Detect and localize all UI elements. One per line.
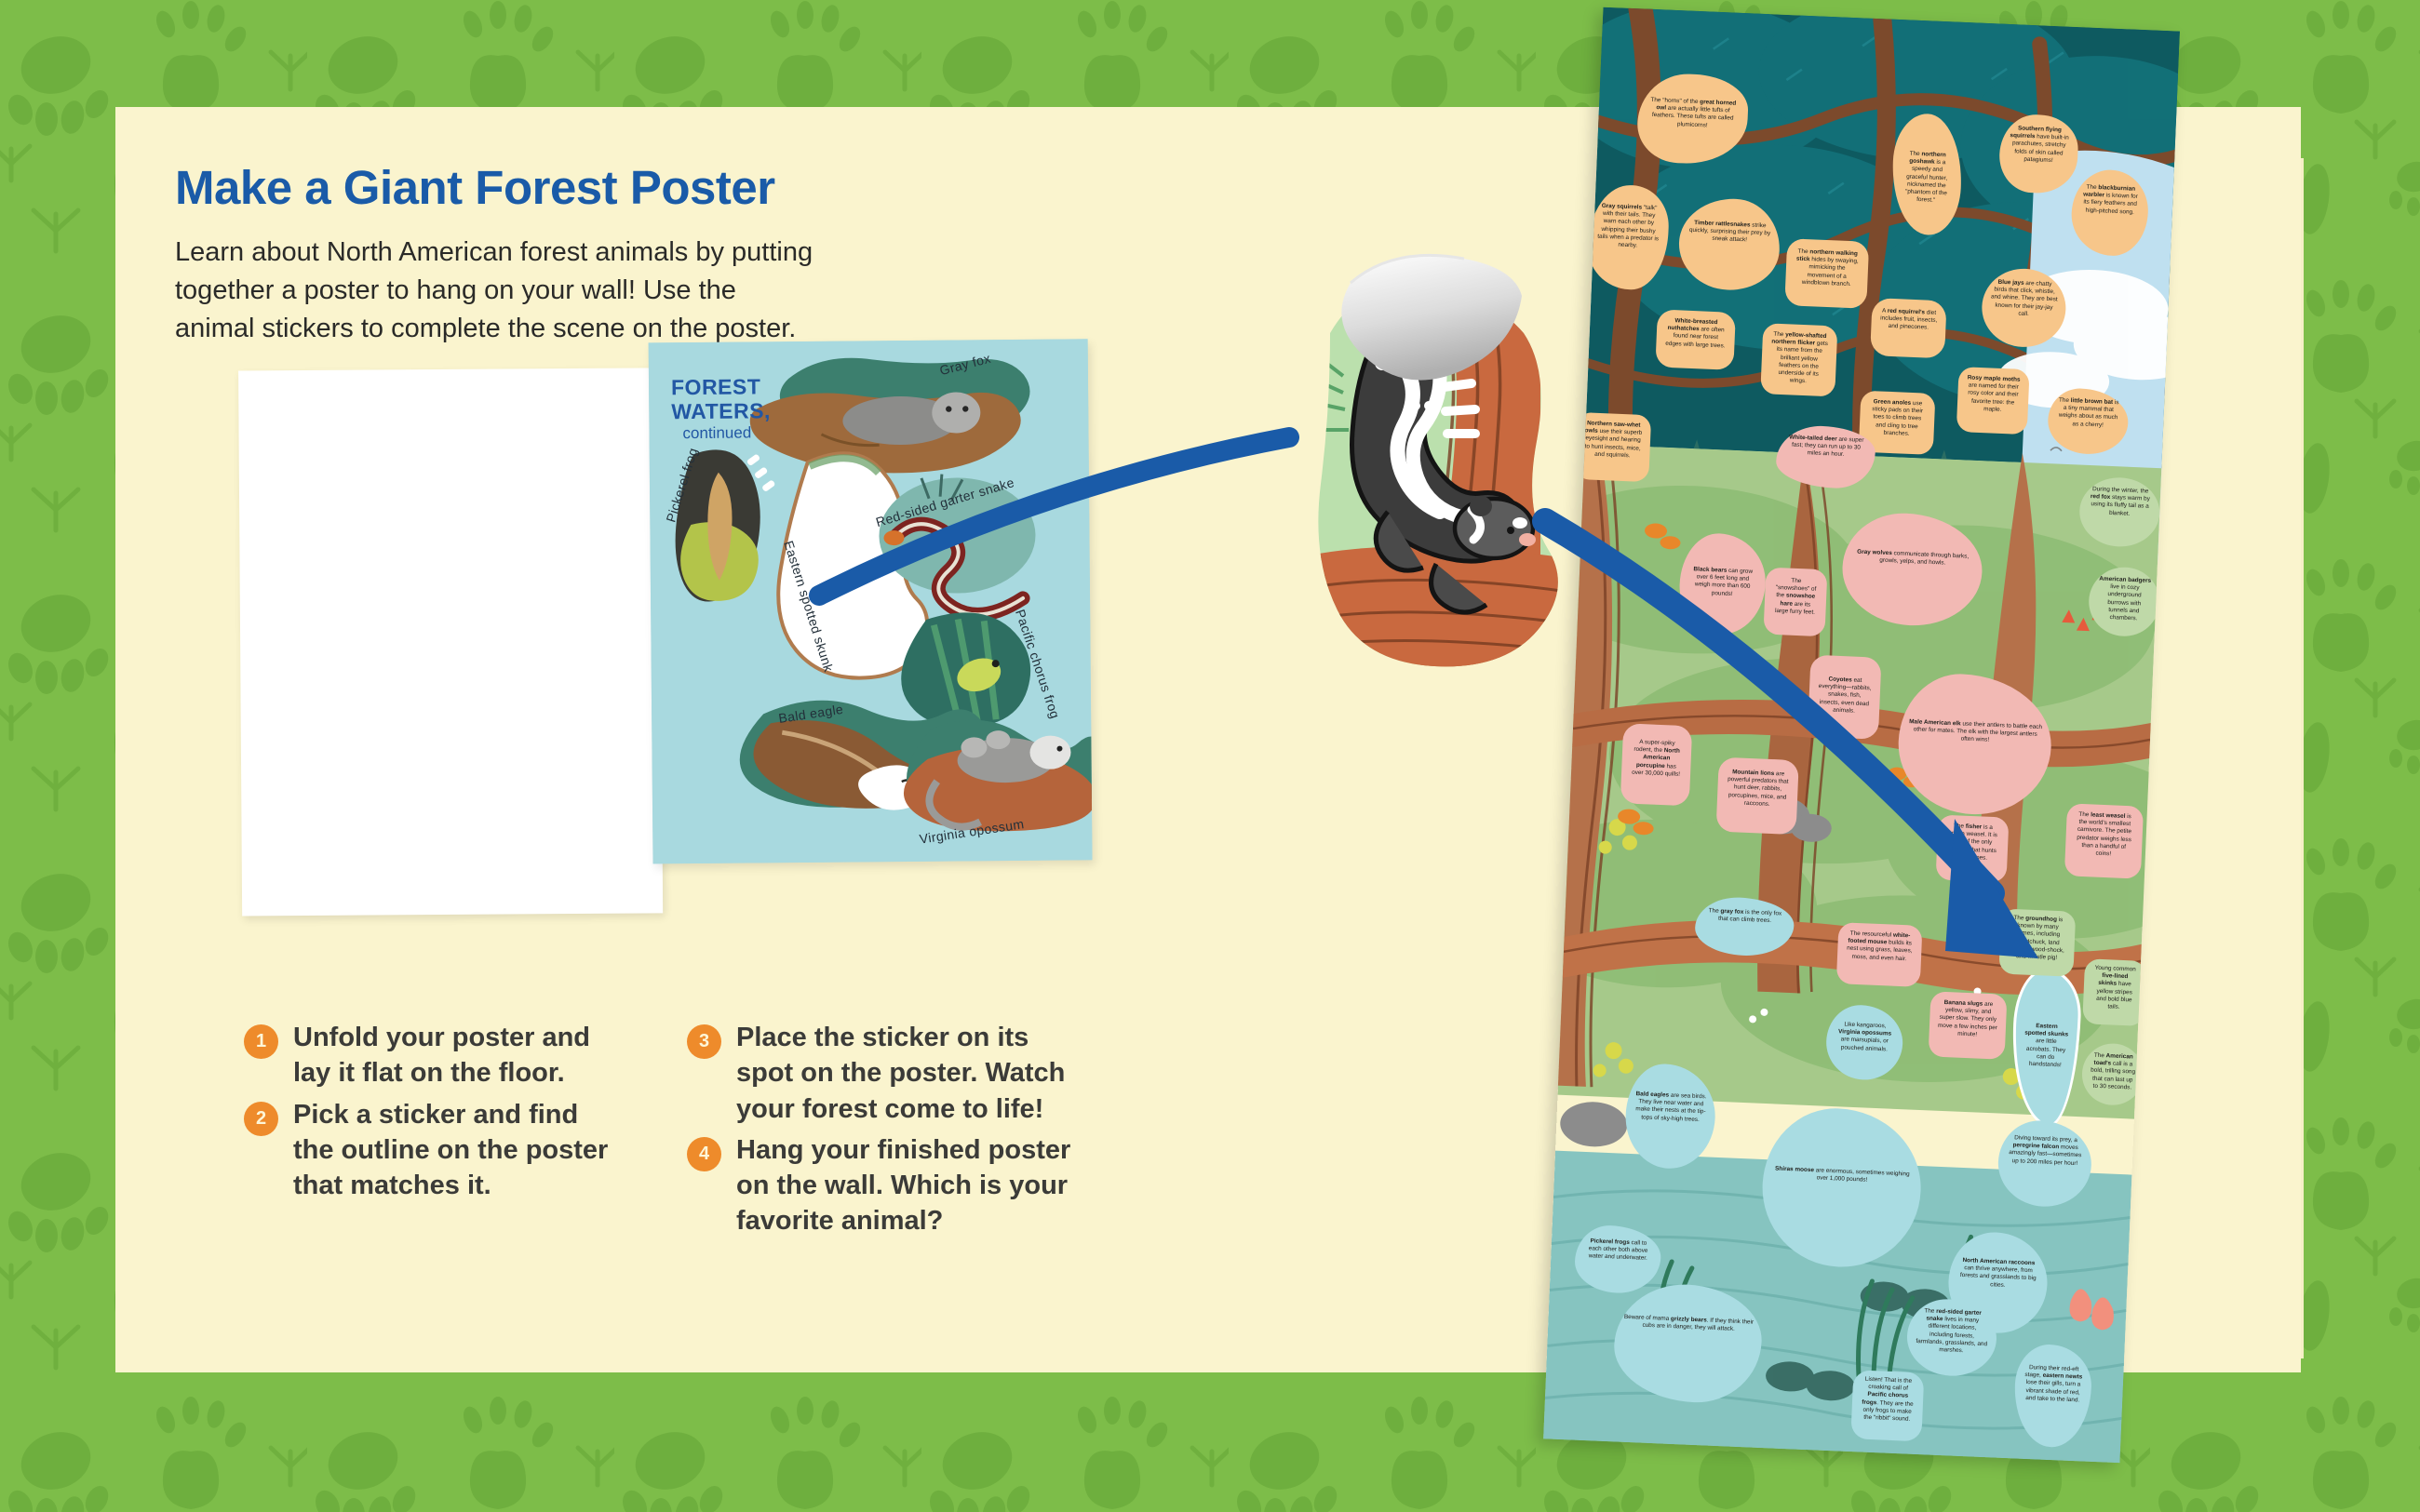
step-item: 1 Unfold your poster and lay it flat on … — [244, 1020, 614, 1091]
step-number-badge: 3 — [687, 1024, 721, 1059]
instruction-steps: 1 Unfold your poster and lay it flat on … — [244, 1020, 1082, 1239]
heading-block: Make a Giant Forest Poster Learn about N… — [175, 163, 882, 348]
poster-callout: Rosy maple moths are named for their ros… — [1956, 367, 2030, 435]
sheet-section-subtitle: continued — [682, 423, 751, 443]
poster-callout: The yellow-shafted northern flicker gets… — [1760, 323, 1837, 396]
page-title: Make a Giant Forest Poster — [175, 163, 882, 213]
poster-callout: Mountain lions are powerful predators th… — [1716, 757, 1799, 836]
steps-column-2: 3 Place the sticker on its spot on the p… — [687, 1020, 1071, 1239]
sticker-sheet-spread[interactable]: FOREST WATERS, continued Gray fox Picker… — [233, 334, 1133, 935]
poster-callout: Young common five-lined skinks have yell… — [2082, 958, 2146, 1026]
step-text: Place the sticker on its spot on the pos… — [736, 1020, 1071, 1127]
poster-callout: Coyotes eat everything—rabbits, snakes, … — [1808, 655, 1882, 740]
poster-callout: The least weasel is the world's smallest… — [2064, 803, 2144, 878]
poster-callout: The resourceful white-footed mouse build… — [1836, 922, 1923, 987]
step-text: Unfold your poster and lay it flat on th… — [293, 1020, 614, 1091]
poster-callout: The groundhog is known by many names, in… — [1998, 908, 2076, 976]
step-item: 2 Pick a sticker and find the outline on… — [244, 1097, 614, 1204]
step-text: Pick a sticker and find the outline on t… — [293, 1097, 614, 1204]
step-text: Hang your finished poster on the wall. W… — [736, 1132, 1071, 1239]
sticker-sheet-blank-page — [238, 368, 663, 916]
sheet-section-title: FOREST WATERS, — [671, 375, 771, 423]
poster-callout: The fisher is a brown weasel. It is one … — [1936, 815, 2010, 883]
poster-callout: The northern walking stick hides by sway… — [1784, 238, 1869, 309]
forest-poster[interactable]: The "horns" of the great horned owl are … — [1543, 7, 2180, 1464]
step-number-badge: 4 — [687, 1137, 721, 1171]
sticker-sheet-illustrated-page[interactable]: FOREST WATERS, continued Gray fox Picker… — [649, 339, 1093, 863]
step-number-badge: 2 — [244, 1102, 278, 1136]
steps-column-1: 1 Unfold your poster and lay it flat on … — [244, 1020, 614, 1239]
poster-callout: Northern saw-whet owls use their superb … — [1574, 412, 1651, 482]
poster-callout: A super-spiky rodent, the North American… — [1620, 723, 1693, 806]
step-item: 4 Hang your finished poster on the wall.… — [687, 1132, 1071, 1239]
peeled-sticker-eastern-spotted-skunk[interactable] — [1261, 233, 1568, 670]
step-item: 3 Place the sticker on its spot on the p… — [687, 1020, 1071, 1127]
poster-callout: White-breasted nuthatches are often foun… — [1655, 309, 1736, 369]
poster-callout: Listen! That is the croaking call of Pac… — [1850, 1370, 1924, 1441]
poster-callout: The "snowshoes" of the snowshoe hare are… — [1763, 568, 1827, 637]
intro-paragraph: Learn about North American forest animal… — [175, 234, 817, 349]
step-number-badge: 1 — [244, 1024, 278, 1059]
poster-callout: Banana slugs are yellow, slimy, and supe… — [1929, 991, 2008, 1059]
poster-callout: A red squirrel's diet includes fruit, in… — [1870, 298, 1947, 358]
